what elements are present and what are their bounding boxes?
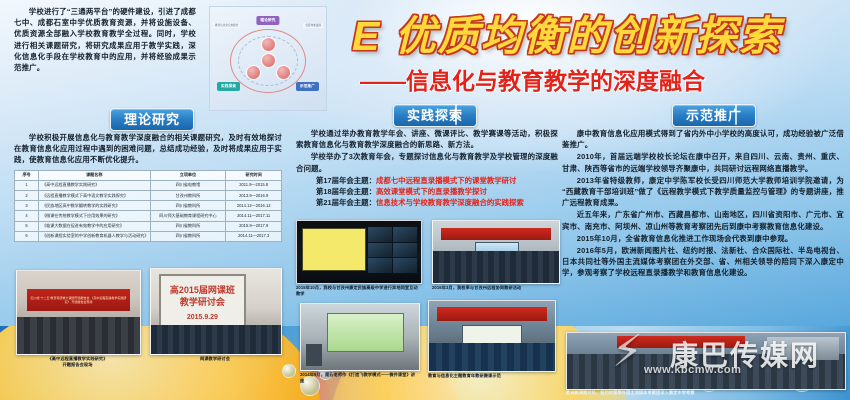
seminar-hall-photo: 四川省“十二五”教育科研重大课题开题报告会 《高中远程直播教学实践研究》 开题报…	[16, 270, 141, 355]
table-row: 2 《远程直播教学模式下高中语文教学实践探究》 甘孜州教科所 2013.9—20…	[15, 190, 282, 200]
screen-line-1: 高2015届网课班	[170, 284, 235, 296]
photo-slide-screen	[327, 313, 405, 352]
photo-banner-text: 四川省“十二五”教育科研重大课题开题报告会 《高中远程直播教学实践研究》 开题报…	[27, 289, 130, 311]
table-row: 5 《临课大数据在促进有效教学中的应用研究》 四川省教科所 2015.9—201…	[15, 221, 282, 231]
diagram-node-left	[246, 65, 261, 80]
theory-column: 学校积极开展信息化与教育教学深度融合的相关课题研究，及时有效地探讨在教育信息化应…	[14, 132, 282, 242]
video-cell	[368, 243, 392, 258]
cell-unit: 四川省电教馆	[150, 180, 226, 190]
diagram-label-theory: 理论研究	[256, 16, 279, 25]
diagram-label-demo: 示范推广	[296, 82, 319, 91]
photo-video-wall	[368, 227, 418, 273]
meeting-item: 第21届年会主题：信息技术与学校教育教学深度融合的实践探索	[316, 197, 558, 208]
photo-lesson-screen	[302, 228, 366, 271]
cell-duration: 2011.9—2015.8	[226, 180, 282, 190]
page-title: E 优质均衡的创新探索	[352, 8, 846, 64]
practice-column: 学校通过举办教育教学年会、讲座、微课评比、教学赛课等活动，积极探索教育信息化与教…	[296, 128, 558, 208]
screen-date: 2015.9.29	[187, 312, 218, 324]
th-name: 课题名称	[39, 170, 150, 180]
cell-name: 《微课在传统教学模式下应用效果的研究》	[39, 211, 150, 221]
cell-unit: 甘孜州教科所	[150, 190, 226, 200]
cell-duration: 2014.11—2017.3	[226, 231, 282, 241]
demo-paragraph-1: 康中教育信息化应用模式得到了省内外中小学校的高度认可，成功经验被广泛借鉴推广。	[562, 128, 844, 150]
remote-teaching-research-photo	[432, 220, 560, 284]
cell-name: 《高中远程直播教学实践研究》	[39, 180, 150, 190]
micro-lesson-lecture-caption: 2014年9月，周云老师作《打造飞教学模式——微件课堂》讲座	[300, 372, 418, 384]
cell-duration: 2015.9—2017.9	[226, 221, 282, 231]
intro-paragraph: 学校进行了“三通两平台”的硬件建设，引进了成都七中、成都石室中学优质教育资源，并…	[14, 6, 196, 73]
table-row: 3 《民族地区高中数学翻转教学的实践研究》 四川省教科所 2014.12—201…	[15, 201, 282, 211]
demo-paragraph-2: 2010年，首届远端学校校长论坛在康中召开，来自四川、云南、贵州、重庆、甘肃、陕…	[562, 151, 844, 173]
cell-index: 4	[15, 211, 39, 221]
practice-paragraph-1: 学校通过举办教育教学年会、讲座、微课评比、教学赛课等活动，积极探索教育信息化与教…	[296, 128, 558, 150]
cell-index: 6	[15, 231, 39, 241]
th-index: 序号	[15, 170, 39, 180]
practice-paragraph-2: 学校举办了3次教育年会，专题探讨信息化与教育教学及学校管理的深度融合问题。	[296, 151, 558, 173]
demo-paragraph-5: 2015年10月，全省教育信息化推进工作现场会代表到康中参观。	[562, 233, 844, 244]
network-class-seminar-caption: 网课教学研讨会	[150, 356, 280, 362]
theory-paragraph: 学校积极开展信息化与教育教学深度融合的相关课题研究，及时有效地探讨在教育信息化应…	[14, 132, 282, 166]
cell-unit: 四川省教科所	[150, 221, 226, 231]
video-cell	[393, 258, 417, 273]
photo-audience	[151, 325, 281, 354]
cell-duration: 2014.12—2016.12	[226, 201, 282, 211]
meeting-title: 信息技术与学校教育教学深度融合的实践探索	[376, 198, 524, 207]
meeting-title: 成都七中远程直录播模式下的课堂教学研讨	[376, 176, 516, 185]
tab-demo[interactable]: 示范推广	[672, 104, 756, 127]
foreign-media-visit-photo	[566, 332, 846, 390]
page-subtitle: ——信息化与教育教学的深度融合	[360, 66, 846, 96]
framework-diagram: 理论研究 实践探索 示范推广 教育信息化应用模式 优质均衡发展	[209, 6, 327, 111]
meeting-label: 第21届年会主题：	[316, 198, 376, 207]
video-cell	[368, 258, 392, 273]
cell-duration: 2014.11—2017.11	[226, 211, 282, 221]
table-header-row: 序号 课题名称 立项单位 研究时间	[15, 170, 282, 180]
photo-red-banner	[441, 228, 552, 239]
meeting-label: 第18届年会主题：	[316, 187, 376, 196]
photo-bus	[767, 337, 839, 359]
demo-paragraph-3: 2013年省特级教师，康定中学陈军校长受四川师范大学教师培训学院邀请，为“西藏教…	[562, 175, 844, 209]
cell-name: 《创新课程实验室的中学创新教育机器人教学与活动研究》	[39, 231, 150, 241]
table-row: 1 《高中远程直播教学实践研究》 四川省电教馆 2011.9—2015.8	[15, 180, 282, 190]
screen-line-2: 教学研讨会	[180, 296, 225, 308]
remote-teaching-research-caption: 2016年3月，我校率与甘孜州远程协同教研活动	[432, 285, 558, 291]
diagram-label-practice: 实践探索	[217, 82, 240, 91]
meeting-item: 第18届年会主题：高效课堂模式下的直录播教学探讨	[316, 186, 558, 197]
cell-unit: 四川省教科所	[150, 201, 226, 211]
cell-name: 《临课大数据在促进有效教学中的应用研究》	[39, 221, 150, 231]
cell-name: 《远程直播教学模式下高中语文教学实践探究》	[39, 190, 150, 200]
meeting-label: 第17届年会主题：	[316, 176, 376, 185]
annual-meeting-photo	[428, 300, 556, 372]
cell-unit: 四川省教科所	[150, 231, 226, 241]
table-row: 6 《创新课程实验室的中学创新教育机器人教学与活动研究》 四川省教科所 2014…	[15, 231, 282, 241]
annual-meeting-caption: 教育与信息化主题教育年教研赛课示范	[428, 373, 554, 379]
cell-name: 《民族地区高中数学翻转教学的实践研究》	[39, 201, 150, 211]
table-row: 4 《微课在传统教学模式下应用效果的研究》 四川师大基础教育课程研究中心 201…	[15, 211, 282, 221]
demo-paragraph-4: 近五年来，广东省广州市、西藏昌都市、山南地区，四川省资阳市、广元市、宜宾市、南充…	[562, 209, 844, 231]
demo-column: 康中教育信息化应用模式得到了省内外中小学校的高度认可，成功经验被广泛借鉴推广。 …	[562, 128, 844, 280]
photo-speaker	[306, 344, 323, 366]
diagram-node-top	[261, 37, 276, 52]
remote-interactive-teaching-caption: 2015年10月，我校与甘孜州康定民族高级中学进行异地同堂互动教学	[296, 285, 420, 297]
diagram-node-center	[261, 53, 276, 68]
tab-theory[interactable]: 理论研究	[110, 108, 194, 131]
video-cell	[393, 243, 417, 258]
tab-divider	[455, 104, 457, 125]
tab-practice[interactable]: 实践探索	[393, 104, 477, 127]
seminar-hall-caption: 《高中远程直播教学实践研究》 开题报告会现场	[16, 356, 139, 368]
network-class-seminar-photo: 高2015届网课班 教学研讨会 2015.9.29	[150, 268, 282, 355]
foreign-media-visit-caption: 欧洲新闻图片社、纽约时报等外国主流媒体考察团深入康定中学考察	[566, 390, 844, 396]
video-cell	[368, 227, 392, 242]
photo-banner: 四川省“十二五”教育科研重大课题开题报告会 《高中远程直播教学实践研究》 开题报…	[27, 289, 130, 311]
demo-paragraph-6: 2016年5月，欧洲新闻图片社、纽约时报、法新社、合众国际社、半岛电视台、日本共…	[562, 245, 844, 279]
photo-red-banner	[617, 336, 745, 347]
diagram-note-right: 优质均衡发展	[303, 23, 323, 28]
photo-audience	[433, 251, 559, 283]
th-duration: 研究时间	[226, 170, 282, 180]
cell-index: 2	[15, 190, 39, 200]
cell-index: 3	[15, 201, 39, 211]
tab-divider	[735, 104, 737, 125]
cell-index: 5	[15, 221, 39, 231]
cell-duration: 2013.9—2016.9	[226, 190, 282, 200]
micro-lesson-lecture-photo	[300, 303, 420, 371]
th-unit: 立项单位	[150, 170, 226, 180]
video-cell	[393, 227, 417, 242]
meeting-item: 第17届年会主题：成都七中远程直录播模式下的课堂教学研讨	[316, 175, 558, 186]
photo-red-banner	[437, 307, 548, 321]
bubble-icon	[282, 364, 296, 378]
photo-seats	[17, 317, 140, 354]
remote-interactive-teaching-photo	[296, 220, 422, 284]
diagram-node-right	[276, 65, 291, 80]
intro-column: 学校进行了“三通两平台”的硬件建设，引进了成都七中、成都石室中学优质教育资源，并…	[14, 6, 196, 74]
research-topics-table: 序号 课题名称 立项单位 研究时间 1 《高中远程直播教学实践研究》 四川省电教…	[14, 170, 282, 242]
photo-audience	[429, 343, 555, 371]
poster-root: E 优质均衡的创新探索 ——信息化与教育教学的深度融合 理论研究 实践探索 示范…	[0, 0, 850, 400]
diagram-note-left: 教育信息化应用模式	[213, 23, 240, 28]
cell-index: 1	[15, 180, 39, 190]
meeting-title: 高效课堂模式下的直录播教学探讨	[376, 187, 487, 196]
cell-unit: 四川师大基础教育课程研究中心	[150, 211, 226, 221]
